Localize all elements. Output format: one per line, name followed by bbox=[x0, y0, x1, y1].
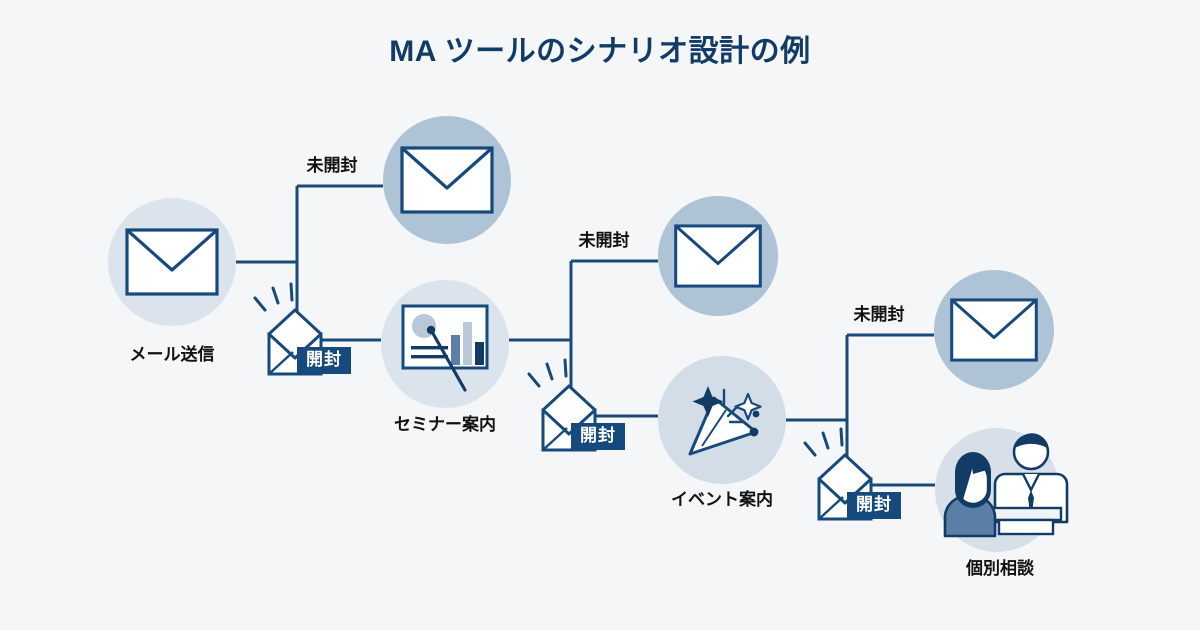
node-mail-send[interactable] bbox=[108, 198, 236, 326]
opened-badge-2: 開封 bbox=[571, 423, 625, 450]
envelope-closed-icon bbox=[402, 148, 492, 212]
node-label-event-invite: イベント案内 bbox=[671, 485, 773, 510]
node-label-mail-send: メール送信 bbox=[130, 340, 215, 365]
envelope-closed-icon bbox=[127, 230, 217, 294]
edge-label-unopened-1: 未開封 bbox=[307, 151, 358, 176]
node-unopened-2[interactable] bbox=[658, 196, 778, 316]
edge-label-unopened-3: 未開封 bbox=[854, 300, 905, 325]
envelope-closed-icon bbox=[676, 226, 761, 286]
node-private-consult[interactable] bbox=[935, 428, 1067, 552]
opened-badge-1: 開封 bbox=[297, 347, 351, 374]
node-event-invite[interactable] bbox=[658, 356, 786, 484]
node-label-private-consult: 個別相談 bbox=[966, 554, 1034, 579]
envelope-closed-icon bbox=[952, 300, 1037, 360]
diagram-canvas: MA ツールのシナリオ設計の例 bbox=[0, 0, 1200, 630]
scenario-flow-diagram bbox=[0, 0, 1200, 630]
edge-label-unopened-2: 未開封 bbox=[579, 226, 630, 251]
opened-badge-3: 開封 bbox=[847, 492, 901, 519]
node-label-seminar-invite: セミナー案内 bbox=[394, 410, 496, 435]
node-unopened-3[interactable] bbox=[934, 270, 1054, 390]
node-seminar-invite[interactable] bbox=[381, 280, 509, 408]
node-unopened-1[interactable] bbox=[383, 116, 511, 244]
